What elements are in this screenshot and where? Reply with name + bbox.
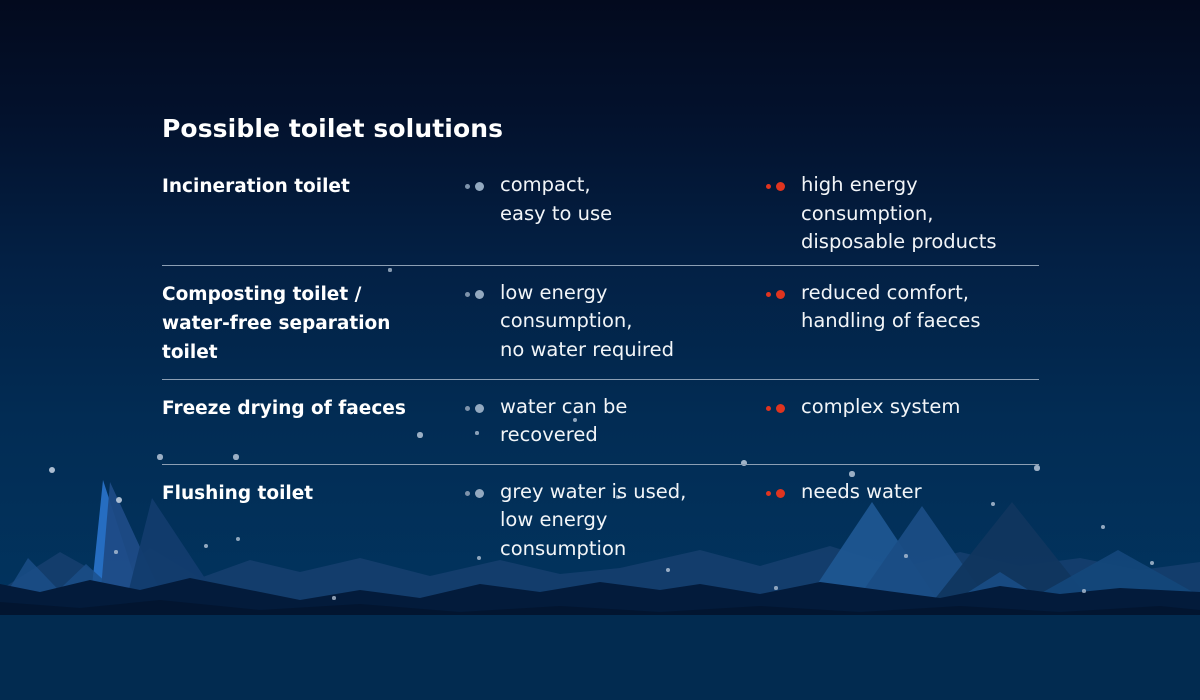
table-row: Composting toilet / water-free separatio… <box>162 265 1039 379</box>
pro-line: recovered <box>500 421 765 450</box>
con-line: handling of faeces <box>801 307 1039 336</box>
con-line: complex system <box>801 393 1039 422</box>
pro-bullet-icon <box>465 488 493 498</box>
solution-name-line: water-free separation <box>162 309 465 338</box>
con-item: needs water <box>766 478 1039 507</box>
table-row: Flushing toilet grey water is used, low … <box>162 464 1039 572</box>
pro-bullet-icon <box>465 181 493 191</box>
solution-pros: water can be recovered <box>465 385 765 450</box>
pro-line: no water required <box>500 336 765 365</box>
pro-line: low energy <box>500 279 765 308</box>
pro-item: low energy consumption, no water require… <box>465 279 765 365</box>
con-line: needs water <box>801 478 1039 507</box>
solution-cons: high energy consumption, disposable prod… <box>765 163 1039 257</box>
pro-line: grey water is used, <box>500 478 765 507</box>
pro-item: water can be recovered <box>465 393 765 450</box>
slide-content: Possible toilet solutions Incineration t… <box>0 0 1200 700</box>
con-item: complex system <box>766 393 1039 422</box>
pro-line: water can be <box>500 393 765 422</box>
con-line: high energy <box>801 171 1039 200</box>
pro-line: consumption <box>500 535 765 564</box>
pro-line: compact, <box>500 171 765 200</box>
pro-item: compact, easy to use <box>465 171 765 228</box>
solution-pros: low energy consumption, no water require… <box>465 271 765 365</box>
con-bullet-icon <box>766 403 794 413</box>
solution-cons: needs water <box>765 470 1039 507</box>
pro-line: low energy <box>500 506 765 535</box>
solution-name: Composting toilet / water-free separatio… <box>162 271 465 367</box>
con-line: disposable products <box>801 228 1039 257</box>
solution-pros: grey water is used, low energy consumpti… <box>465 470 765 564</box>
solution-name-line: Composting toilet / <box>162 280 465 309</box>
pro-line: easy to use <box>500 200 765 229</box>
pro-item: grey water is used, low energy consumpti… <box>465 478 765 564</box>
pro-bullet-icon <box>465 289 493 299</box>
con-item: reduced comfort, handling of faeces <box>766 279 1039 336</box>
slide-canvas: Possible toilet solutions Incineration t… <box>0 0 1200 700</box>
page-title: Possible toilet solutions <box>162 114 503 143</box>
solution-name-line: toilet <box>162 338 465 367</box>
con-bullet-icon <box>766 488 794 498</box>
solution-name: Flushing toilet <box>162 470 465 508</box>
con-bullet-icon <box>766 181 794 191</box>
table-row: Incineration toilet compact, easy to use <box>162 158 1039 265</box>
pro-bullet-icon <box>465 403 493 413</box>
solution-name: Freeze drying of faeces <box>162 385 465 423</box>
pro-line: consumption, <box>500 307 765 336</box>
solution-name: Incineration toilet <box>162 163 465 201</box>
table-row: Freeze drying of faeces water can be rec… <box>162 379 1039 464</box>
con-bullet-icon <box>766 289 794 299</box>
solution-cons: reduced comfort, handling of faeces <box>765 271 1039 336</box>
con-line: reduced comfort, <box>801 279 1039 308</box>
con-line: consumption, <box>801 200 1039 229</box>
solution-cons: complex system <box>765 385 1039 422</box>
solutions-table: Incineration toilet compact, easy to use <box>162 158 1039 571</box>
con-item: high energy consumption, disposable prod… <box>766 171 1039 257</box>
solution-pros: compact, easy to use <box>465 163 765 228</box>
